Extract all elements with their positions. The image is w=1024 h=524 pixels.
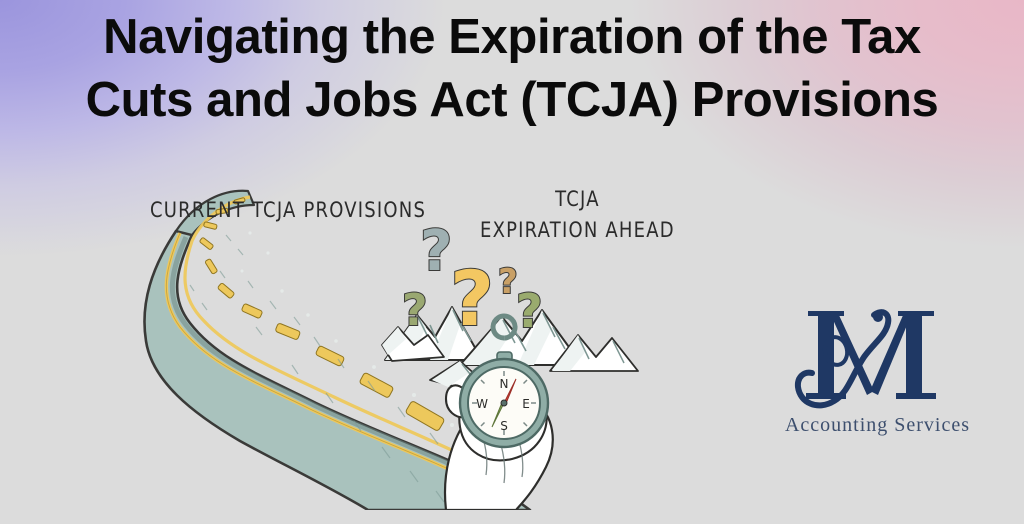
compass-direction-e: E <box>522 397 530 411</box>
compass-direction-n: N <box>500 377 509 391</box>
label-current-provisions: CURRENT TCJA PROVISIONS <box>150 198 426 223</box>
question-mark-amber: ? <box>450 254 494 343</box>
company-logo: Accounting Services <box>770 295 985 455</box>
logo-tagline: Accounting Services <box>770 414 985 437</box>
compass-direction-w: W <box>476 397 488 411</box>
page-title: Navigating the Expiration of the Tax Cut… <box>0 6 1024 132</box>
banner-canvas: Navigating the Expiration of the Tax Cut… <box>0 0 1024 524</box>
question-mark-slate: ? <box>420 219 452 284</box>
question-mark-tan: ? <box>498 262 518 302</box>
label-expiration-ahead: TCJA EXPIRATION AHEAD <box>480 185 675 246</box>
compass-direction-s: S <box>500 419 508 433</box>
question-mark-olive: ? <box>402 285 428 336</box>
jm-monogram-icon <box>778 295 978 420</box>
question-mark-sage: ? <box>516 284 543 338</box>
